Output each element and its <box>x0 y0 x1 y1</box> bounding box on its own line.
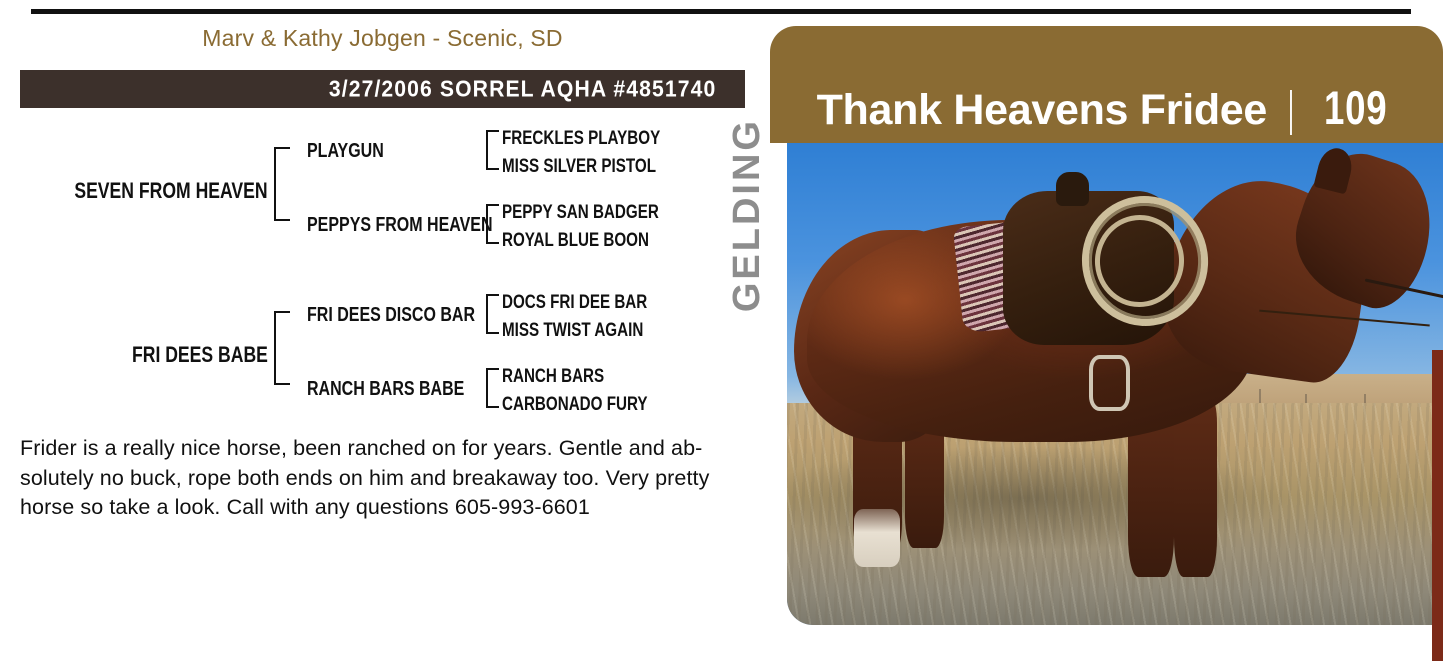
horse-info-value: 3/27/2006 SORREL AQHA #4851740 <box>329 76 717 103</box>
horse-leg <box>1174 398 1217 576</box>
horse-photo <box>787 143 1443 625</box>
horse-leg-sock <box>854 509 900 567</box>
photo-canvas <box>787 143 1443 625</box>
pedigree-dam-dam-dam: CARBONADO FURY <box>502 395 648 414</box>
pedigree-dam: FRI DEES BABE <box>132 344 268 366</box>
pedigree-bracket-dam-dam <box>486 368 499 408</box>
sex-label-text: GELDING <box>726 118 769 312</box>
header-panel: Thank Heavens Fridee | 109 <box>770 26 1443 143</box>
pedigree-bracket-dam <box>274 311 290 385</box>
stirrup <box>1089 355 1130 411</box>
page-title: Thank Heavens Fridee <box>817 86 1267 135</box>
pedigree-sire-dam-sire: PEPPY SAN BADGER <box>502 203 659 222</box>
pedigree-sire-sire-dam: MISS SILVER PISTOL <box>502 157 656 176</box>
description-line: solutely no buck, rope both ends on him … <box>20 464 748 494</box>
lot-number: 109 <box>1324 80 1388 135</box>
horse-description: Frider is a really nice horse, been ranc… <box>20 434 748 523</box>
pedigree-dam-dam: RANCH BARS BABE <box>307 379 464 399</box>
pedigree-sire-dam-dam: ROYAL BLUE BOON <box>502 231 649 250</box>
pedigree-sire-dam: PEPPYS FROM HEAVEN <box>307 215 493 235</box>
pedigree-bracket-sire-sire <box>486 130 499 170</box>
title-divider: | <box>1288 84 1294 132</box>
pedigree-bracket-sire <box>274 147 290 221</box>
pedigree-sire-sire-sire: FRECKLES PLAYBOY <box>502 129 660 148</box>
header-inner: Thank Heavens Fridee | 109 <box>770 80 1443 135</box>
page-edge-strip <box>1432 350 1443 661</box>
saddle-horn <box>1056 172 1089 206</box>
pedigree-bracket-sire-dam <box>486 204 499 244</box>
description-line: horse so take a look. Call with any ques… <box>20 493 748 523</box>
sex-label: GELDING <box>724 118 770 418</box>
pedigree-sire: SEVEN FROM HEAVEN <box>75 180 268 202</box>
pedigree-bracket-dam-sire <box>486 294 499 334</box>
top-divider-rule <box>31 9 1411 14</box>
pedigree-dam-dam-sire: RANCH BARS <box>502 367 604 386</box>
pedigree-sire-sire: PLAYGUN <box>307 141 384 161</box>
pedigree-dam-sire-dam: MISS TWIST AGAIN <box>502 321 643 340</box>
description-line: Frider is a really nice horse, been ranc… <box>20 434 748 464</box>
pedigree-dam-sire-sire: DOCS FRI DEE BAR <box>502 293 647 312</box>
horse-info-text: 3/27/2006 SORREL AQHA #4851740 <box>312 76 733 103</box>
pedigree-chart: SEVEN FROM HEAVEN PLAYGUN FRECKLES PLAYB… <box>0 118 720 423</box>
horse-info-bar: 3/27/2006 SORREL AQHA #4851740 <box>20 70 745 108</box>
pedigree-dam-sire: FRI DEES DISCO BAR <box>307 305 475 325</box>
consignor-name: Marv & Kathy Jobgen - Scenic, SD <box>20 25 745 52</box>
